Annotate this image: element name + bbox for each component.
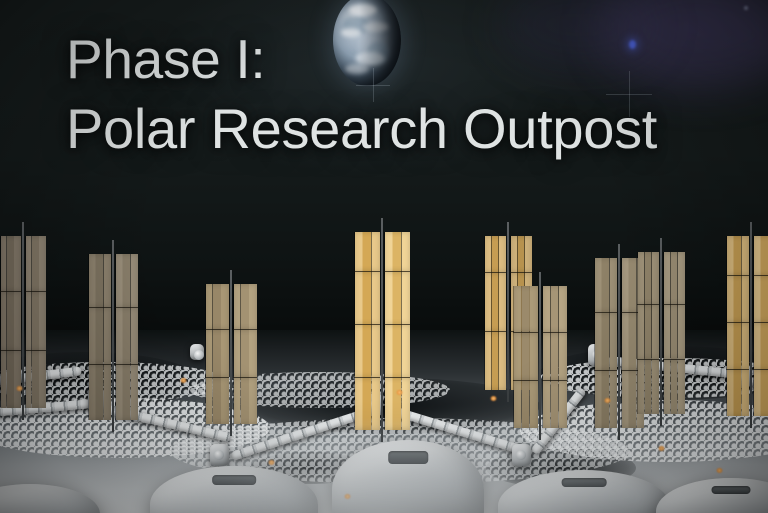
title-line-2: Polar Research Outpost xyxy=(66,94,766,164)
array-mast xyxy=(507,222,509,402)
array-wing-right xyxy=(233,284,257,424)
solar-array-6 xyxy=(513,286,567,428)
array-wing-right xyxy=(115,254,138,420)
surface-lamp-9 xyxy=(344,494,351,499)
array-wing-left xyxy=(0,236,21,408)
array-wing-left xyxy=(637,252,659,414)
corridor-node-center-left xyxy=(210,444,229,466)
array-wing-right xyxy=(384,232,410,430)
array-wing-left xyxy=(484,236,506,390)
corridor-node-mid-left xyxy=(190,344,204,360)
array-wing-right xyxy=(25,236,46,408)
array-mast xyxy=(539,272,541,440)
page-title: Phase I: Polar Research Outpost xyxy=(66,24,766,164)
surface-lamp-7 xyxy=(716,468,723,473)
array-wing-left xyxy=(88,254,111,420)
surface-lamp-4 xyxy=(396,390,403,395)
title-line-1: Phase I: xyxy=(66,24,766,94)
array-mast xyxy=(660,238,662,426)
surface-lamp-5 xyxy=(604,398,611,403)
corridor-node-right xyxy=(512,444,531,466)
array-mast xyxy=(112,240,114,432)
dome-hatch xyxy=(212,475,256,485)
solar-array-4-center xyxy=(354,232,410,430)
surface-lamp-3 xyxy=(268,460,275,465)
lunar-outpost-render: Phase I: Polar Research Outpost xyxy=(0,0,768,513)
array-wing-left xyxy=(726,236,749,416)
dome-hatch xyxy=(562,478,607,487)
array-wing-left xyxy=(513,286,538,428)
array-wing-left xyxy=(205,284,229,424)
array-wing-right xyxy=(663,252,685,414)
array-mast xyxy=(22,222,24,420)
array-mast xyxy=(381,218,383,442)
dome-hatch xyxy=(712,486,751,495)
star-flare-faint-icon xyxy=(744,6,748,10)
solar-array-9 xyxy=(726,236,768,416)
solar-array-8 xyxy=(637,252,685,414)
surface-lamp-8 xyxy=(490,396,497,401)
solar-array-2 xyxy=(88,254,138,420)
array-wing-right xyxy=(542,286,567,428)
array-mast xyxy=(618,244,620,440)
surface-lamp-2 xyxy=(180,378,187,383)
solar-array-1 xyxy=(0,236,46,408)
surface-lamp-6 xyxy=(658,446,665,451)
array-wing-left xyxy=(354,232,380,430)
array-wing-right xyxy=(753,236,768,416)
dome-hatch xyxy=(388,451,428,464)
surface-lamp-1 xyxy=(16,386,23,391)
array-mast xyxy=(750,222,752,428)
solar-array-3 xyxy=(205,284,257,424)
array-mast xyxy=(230,270,232,436)
